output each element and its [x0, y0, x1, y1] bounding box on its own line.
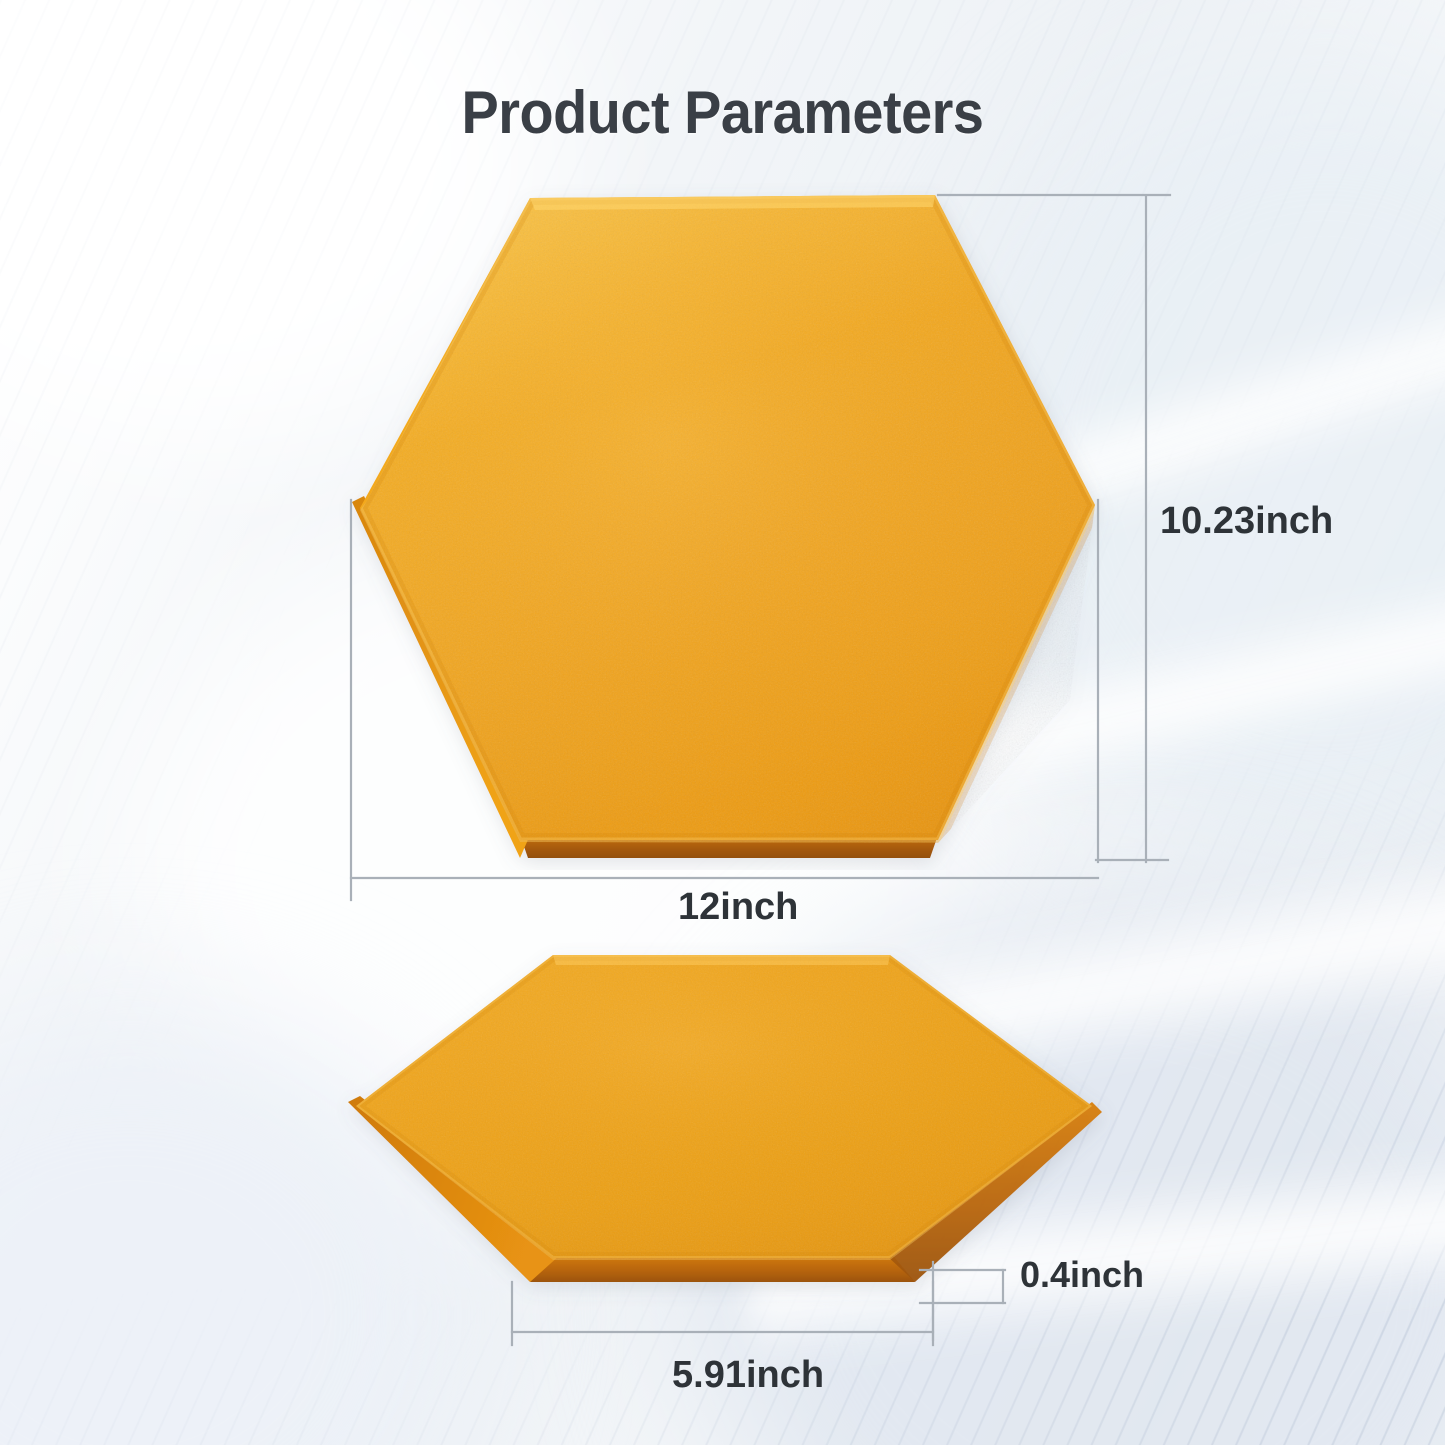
panel-top-highlight [553, 955, 890, 965]
dimension-label-height: 10.23inch [1160, 500, 1333, 543]
dimension-label-side: 5.91inch [672, 1354, 824, 1397]
dimension-label-thickness: 0.4inch [1020, 1254, 1144, 1296]
hexagon-panel-edge-view [330, 930, 1130, 1330]
dimension-label-width: 12inch [678, 886, 798, 929]
page-title: Product Parameters [51, 78, 1395, 147]
hexagon-panel-front-view [330, 180, 1130, 870]
product-parameters-image: Product Parameters [0, 0, 1445, 1445]
